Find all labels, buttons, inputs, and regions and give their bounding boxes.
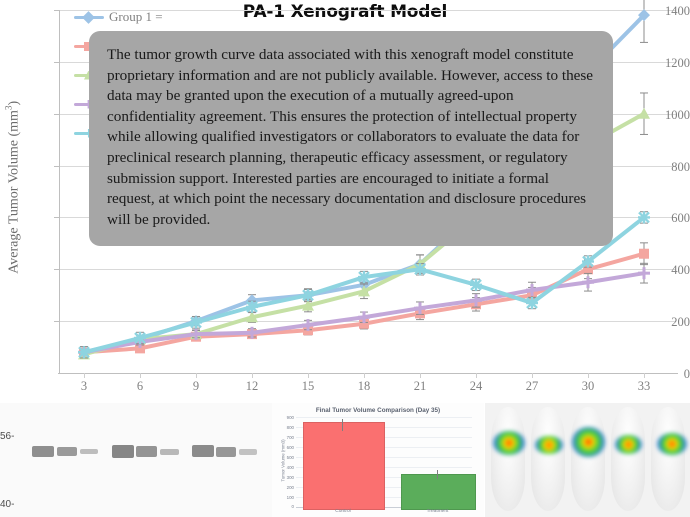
blot-band bbox=[80, 449, 98, 454]
bar-category-treatment: Treatment bbox=[401, 509, 474, 514]
bar-error-treatment bbox=[437, 470, 438, 479]
bar-y-tick-800: 800 bbox=[276, 425, 294, 430]
biolum-signal bbox=[572, 427, 605, 457]
mouse-subject bbox=[491, 407, 525, 511]
western-blot-panel: 56- 40- bbox=[0, 403, 272, 517]
blot-band bbox=[160, 449, 179, 455]
blot-marker-40: 40- bbox=[0, 499, 14, 510]
blot-band bbox=[239, 449, 257, 455]
bar-y-tick-0: 0 bbox=[276, 504, 294, 509]
proprietary-data-notice: The tumor growth curve data associated w… bbox=[89, 31, 613, 246]
bar-chart-y-label: Tumor Volume (mm3) bbox=[281, 433, 286, 489]
bar-y-tick-300: 300 bbox=[276, 475, 294, 480]
bar-error-control bbox=[342, 419, 343, 431]
bar-y-tick-100: 100 bbox=[276, 495, 294, 500]
bar-y-tick-200: 200 bbox=[276, 485, 294, 490]
legend-label-group-1: Group 1 = bbox=[109, 9, 163, 25]
final-volume-bar-chart: Final Tumor Volume Comparison (Day 35) T… bbox=[272, 403, 484, 517]
bar-treatment[interactable] bbox=[401, 474, 476, 510]
legend-item-group-1[interactable]: Group 1 = bbox=[74, 2, 264, 31]
bar-y-tick-900: 900 bbox=[276, 415, 294, 420]
blot-band bbox=[112, 445, 134, 458]
bar-chart-title: Final Tumor Volume Comparison (Day 35) bbox=[272, 407, 484, 414]
legend-swatch-diamond-icon bbox=[74, 12, 104, 22]
biolum-signal bbox=[615, 435, 642, 454]
biolum-signal bbox=[657, 433, 687, 455]
bar-y-tick-700: 700 bbox=[276, 435, 294, 440]
mouse-subject bbox=[531, 407, 565, 511]
bar-y-tick-600: 600 bbox=[276, 445, 294, 450]
blot-band bbox=[216, 447, 236, 457]
biolum-signal bbox=[535, 436, 563, 454]
blot-marker-56: 56- bbox=[0, 431, 14, 442]
bar-control[interactable] bbox=[303, 422, 385, 510]
bar-category-control: Control bbox=[303, 509, 383, 514]
mouse-subject bbox=[571, 407, 605, 511]
blot-band bbox=[57, 447, 77, 456]
bar-y-tick-500: 500 bbox=[276, 455, 294, 460]
bioluminescence-panel bbox=[485, 403, 690, 517]
blot-band bbox=[32, 446, 54, 457]
blot-band bbox=[136, 446, 157, 457]
biolum-signal bbox=[493, 431, 525, 455]
mouse-subject bbox=[651, 407, 685, 511]
bottom-figure-strip: 56- 40- Final Tumor Volume Comparison (D… bbox=[0, 400, 690, 517]
slide-canvas: PA-1 Xenograft Model 1400 1200 1000 800 … bbox=[0, 0, 690, 517]
blot-band bbox=[192, 445, 214, 457]
mouse-subject bbox=[611, 407, 645, 511]
bar-y-tick-400: 400 bbox=[276, 465, 294, 470]
bar-gridline bbox=[296, 417, 472, 418]
